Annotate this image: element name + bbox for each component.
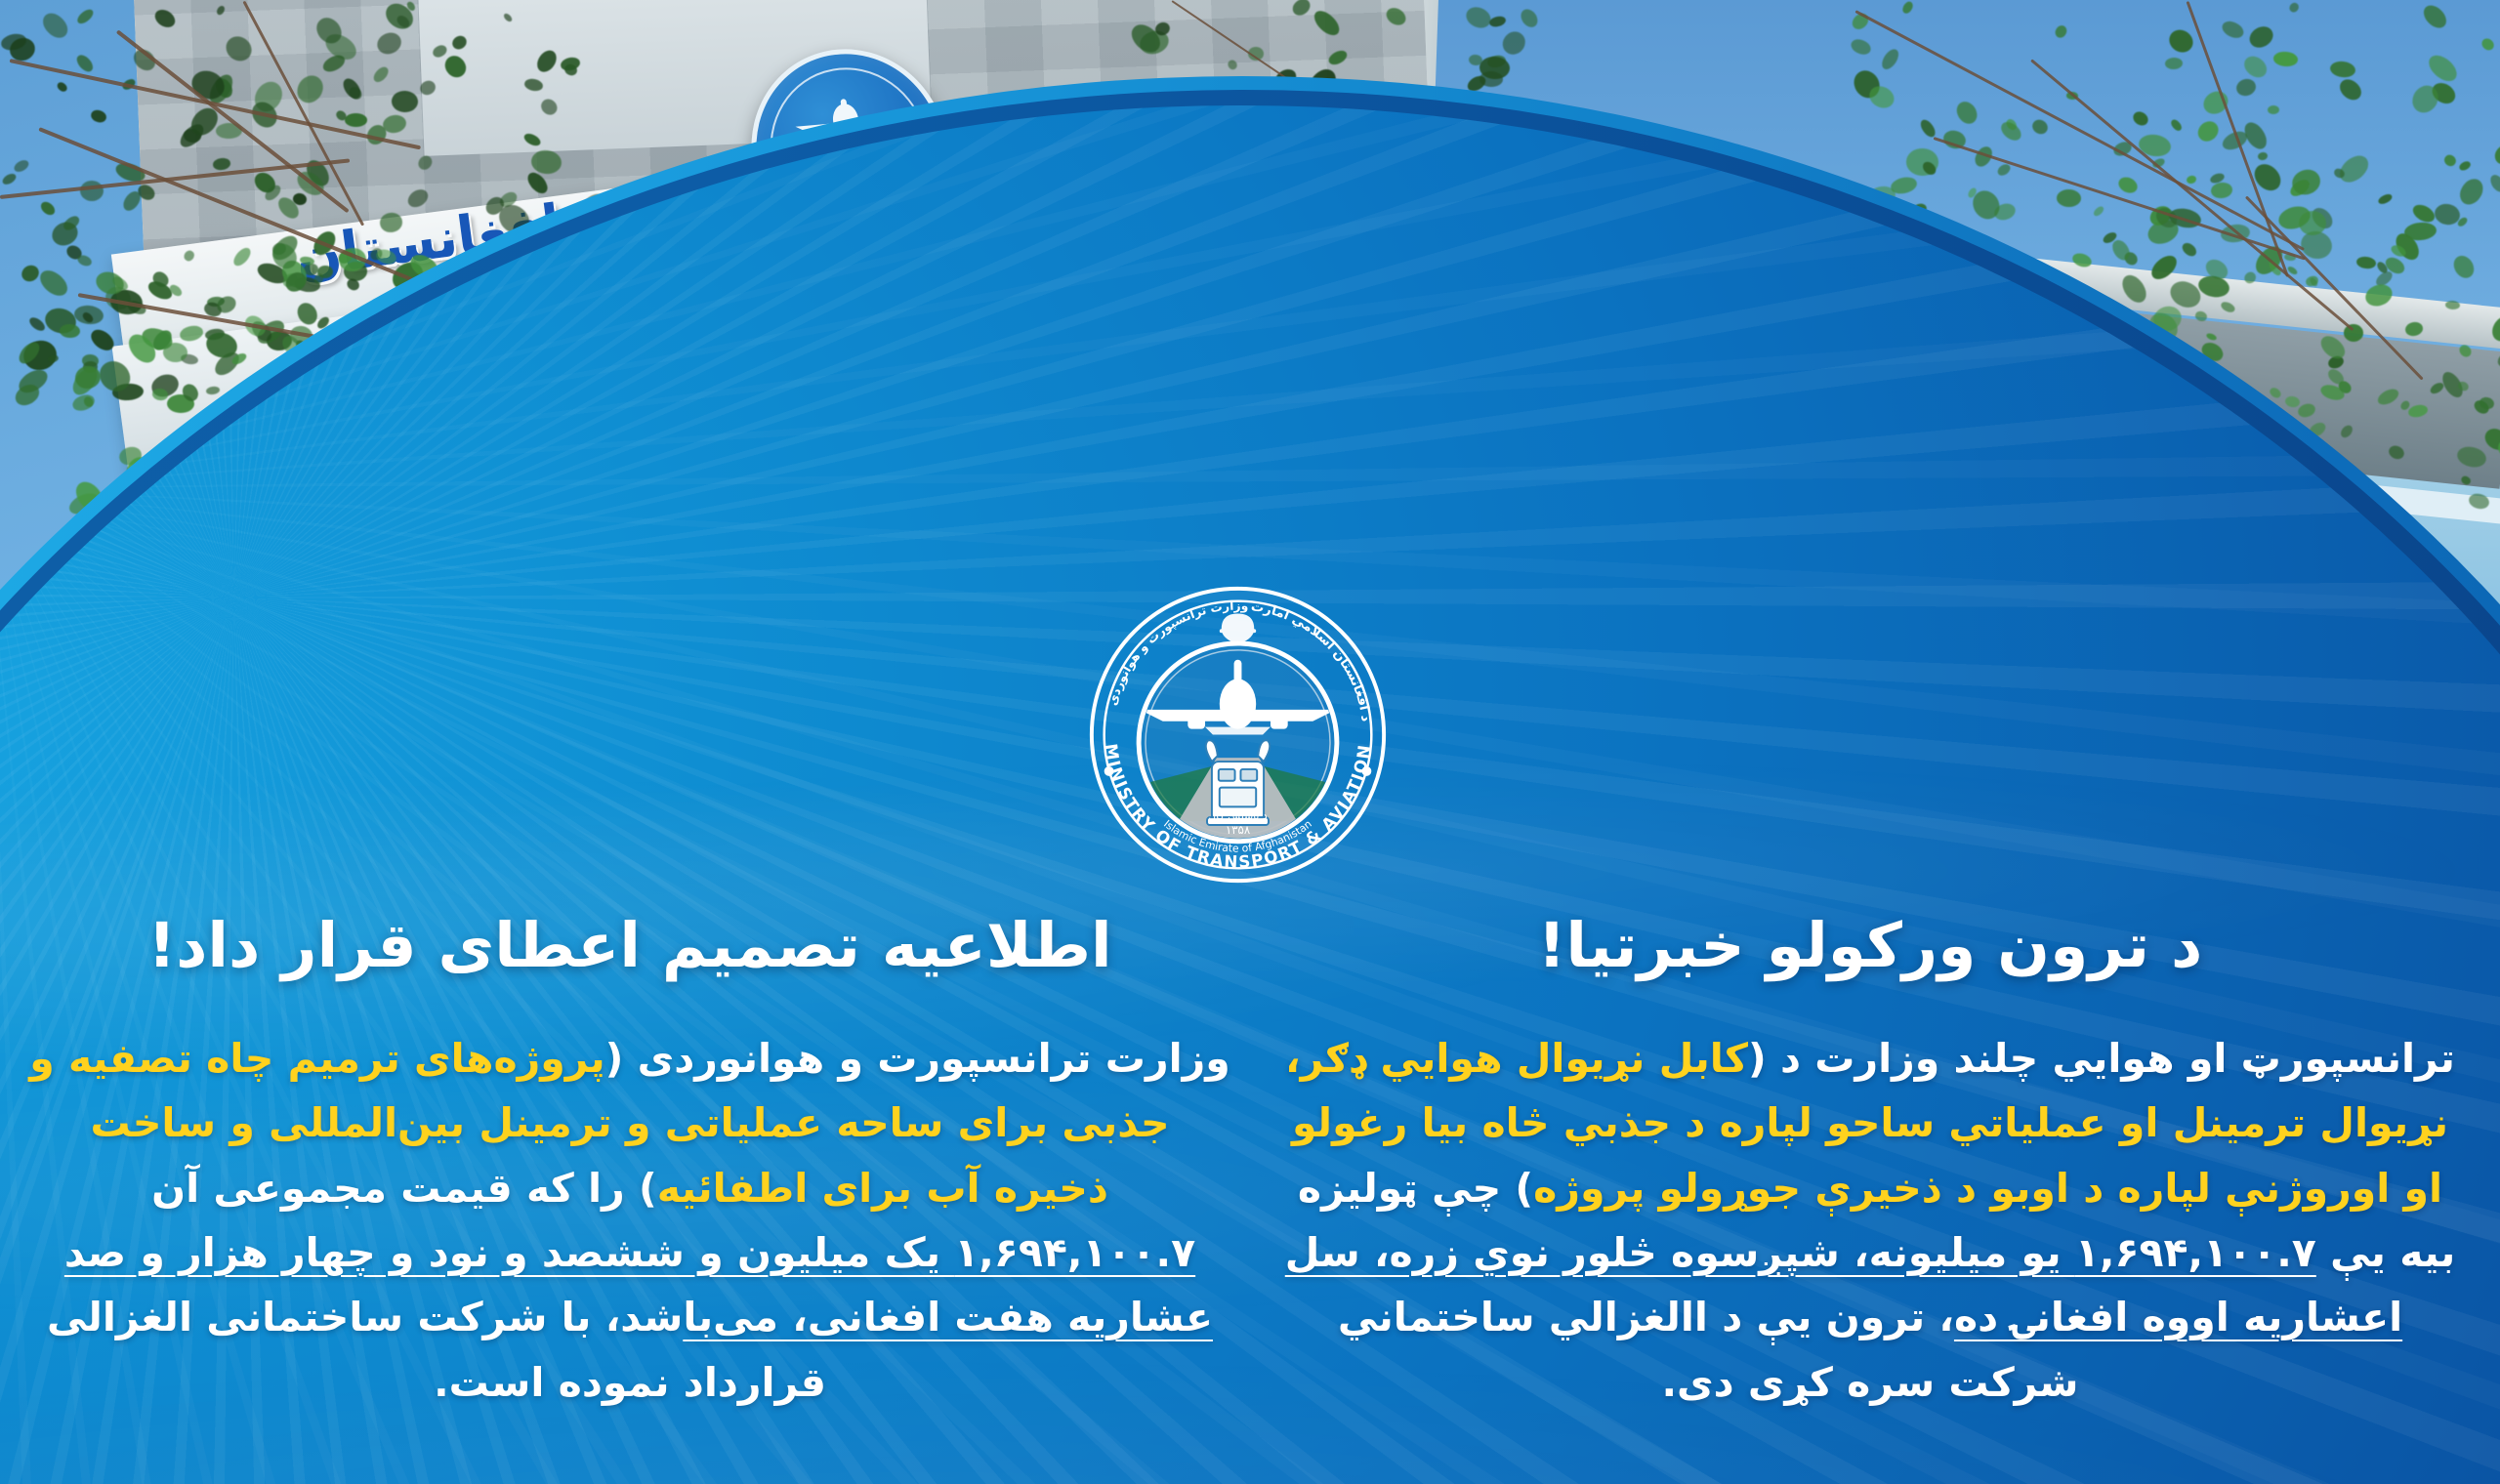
emblem-founded-label: د تاسیس کال — [1208, 809, 1268, 822]
ministry-seal-emblem: د افغانستان اسلامي امارت وزارت ترانسپورت… — [1084, 581, 1392, 888]
pashto-announcement-column: د ترون ورکولو خبرتیا! ترانسپورټ او هوايي… — [1270, 908, 2471, 1415]
dari-announcement-column: اطلاعیه تصمیم اعطای قرار داد! وزارت تران… — [29, 908, 1230, 1415]
dari-body-text: وزارت ترانسپورت و هوانوردی (پروژه‌های تر… — [29, 1026, 1230, 1415]
national-emblem-icon — [1220, 613, 1256, 644]
pashto-headline: د ترون ورکولو خبرتیا! — [1270, 908, 2471, 985]
pashto-body-text: ترانسپورټ او هوايي چلند وزارت د (کابل نړ… — [1270, 1026, 2471, 1415]
dari-headline: اطلاعیه تصمیم اعطای قرار داد! — [29, 908, 1230, 985]
announcement-poster: MINISTRY OF TRANSPORT & AVIATION Islamic… — [0, 0, 2500, 1484]
text-segment-0: وزارت ترانسپورت و هوانوردی ( — [605, 1035, 1230, 1082]
emblem-founded-year: ۱۳۵۸ — [1226, 823, 1250, 837]
text-segment-2: ) را که قیمت مجموعی آن — [151, 1165, 657, 1212]
text-segment-0: ترانسپورټ او هوايي چلند وزارت د ( — [1748, 1035, 2455, 1082]
